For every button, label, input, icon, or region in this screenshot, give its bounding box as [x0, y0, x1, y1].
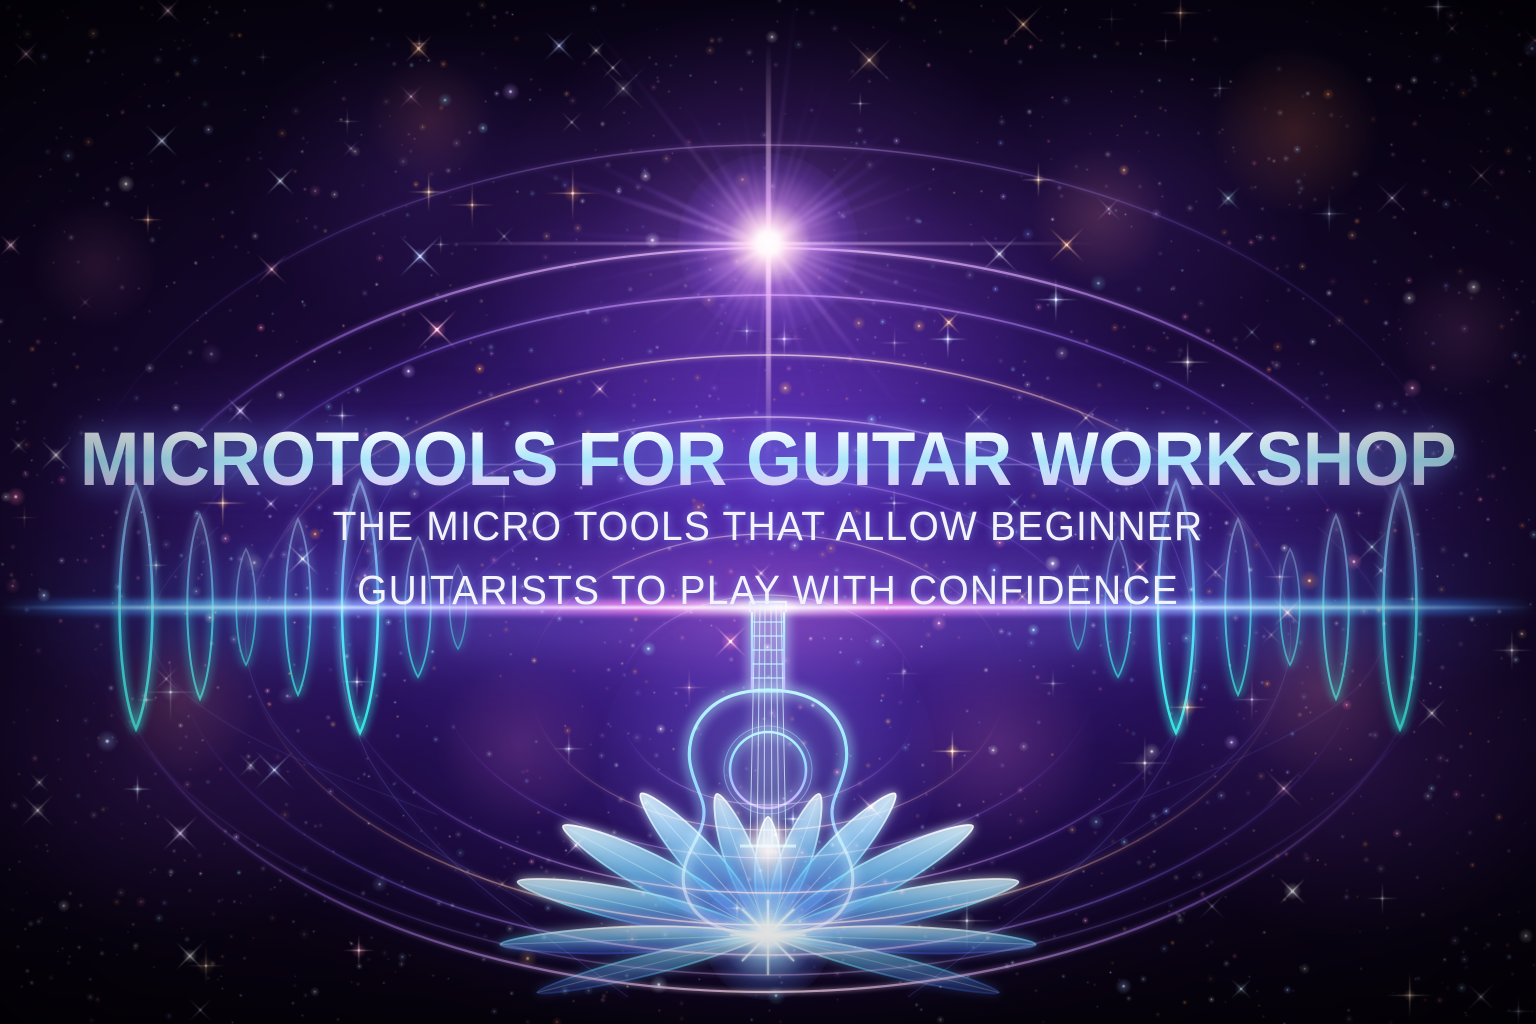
- title-divider: [238, 464, 1298, 466]
- slide-canvas: MICROTOOLS FOR GUITAR WORKSHOP THE MICRO…: [0, 0, 1536, 1024]
- page-title: MICROTOOLS FOR GUITAR WORKSHOP: [46, 422, 1490, 498]
- subtitle-line-2: GUITARISTS TO PLAY WITH CONFIDENCE: [38, 558, 1497, 622]
- text-block: MICROTOOLS FOR GUITAR WORKSHOP THE MICRO…: [0, 0, 1536, 1024]
- subtitle-line-1: THE MICRO TOOLS THAT ALLOW BEGINNER: [38, 494, 1497, 558]
- subtitle: THE MICRO TOOLS THAT ALLOW BEGINNER GUIT…: [38, 494, 1497, 622]
